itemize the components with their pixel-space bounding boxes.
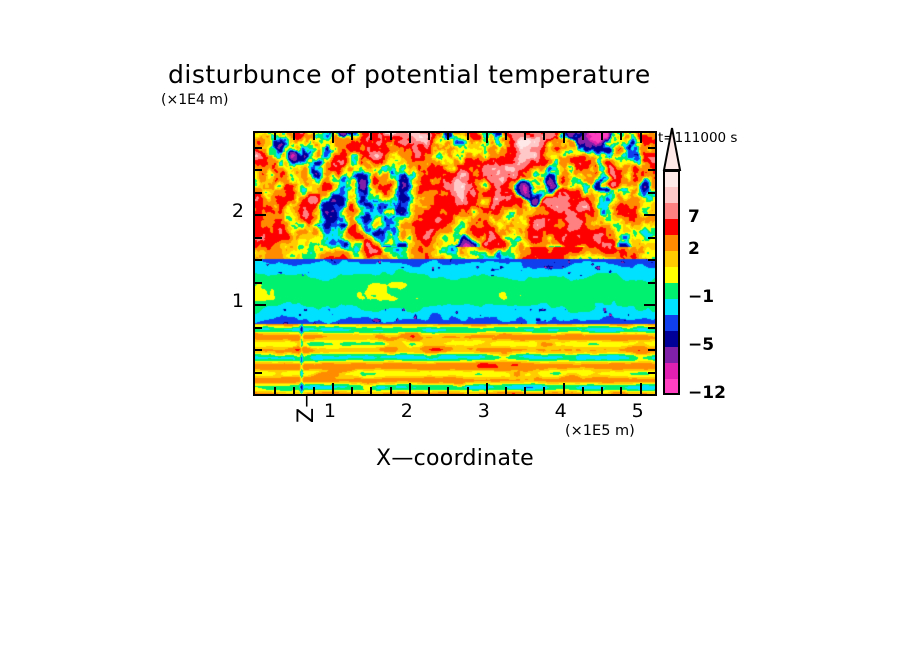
axis-tick [332,383,334,394]
x-tick-label: 1 [315,400,345,422]
axis-tick [351,133,353,140]
axis-tick [486,133,488,143]
axis-tick [640,383,642,394]
colorbar-tick-label: 2 [688,239,700,259]
axis-tick [447,387,449,394]
y-tick-label: 1 [220,290,244,312]
axis-tick [620,133,622,140]
axis-tick [313,387,315,394]
colorbar-band [663,234,680,251]
contour-plot-area[interactable] [253,131,657,396]
axis-tick [255,237,262,239]
axis-tick [255,259,262,261]
axis-tick [582,387,584,394]
axis-tick [447,133,449,140]
figure-canvas: disturbunce of potential temperature (×1… [0,0,904,654]
axis-tick [640,133,642,143]
colorbar-arrow-cap [659,126,685,172]
axis-tick [524,387,526,394]
axis-tick [644,214,655,216]
axis-tick [563,383,565,394]
axis-tick [370,133,372,140]
colorbar-band [663,218,680,235]
axis-tick [601,387,603,394]
axis-tick [582,133,584,140]
axis-tick [428,387,430,394]
axis-tick [524,133,526,140]
axis-tick [313,133,315,140]
axis-tick [390,387,392,394]
axis-tick [332,133,334,143]
axis-tick [255,372,262,374]
axis-tick [543,133,545,140]
colorbar-band [663,266,680,283]
axis-tick [255,349,262,351]
axis-tick [644,304,655,306]
colorbar-tick-label: −5 [688,335,714,355]
axis-tick [255,147,262,149]
axis-tick [409,383,411,394]
axis-tick [255,192,262,194]
axis-tick [255,304,266,306]
y-tick-label: 2 [220,200,244,222]
axis-tick [648,259,655,261]
axis-tick [255,214,266,216]
colorbar-band [663,202,680,219]
axis-tick [409,133,411,143]
axis-tick [505,133,507,140]
axis-tick [620,387,622,394]
x-tick-label: 4 [546,400,576,422]
colorbar-tick-label: −12 [688,383,726,403]
page-title: disturbunce of potential temperature [168,60,738,89]
axis-tick [543,387,545,394]
axis-tick [467,133,469,140]
x-axis-title: X—coordinate [330,446,580,471]
colorbar-band [663,378,680,395]
axis-tick [648,237,655,239]
axis-tick [648,327,655,329]
y-axis-title-wrapper: Z—coordinate [187,150,215,410]
colorbar-band [663,298,680,315]
axis-tick [505,387,507,394]
axis-tick [274,387,276,394]
axis-tick [255,282,262,284]
axis-tick [255,169,262,171]
x-tick-label: 2 [392,400,422,422]
colorbar[interactable] [663,170,680,394]
colorbar-band [663,282,680,299]
x-axis-unit-label: (×1E5 m) [565,423,635,439]
colorbar-tick-label: 7 [688,207,700,227]
axis-tick [467,387,469,394]
axis-tick [648,349,655,351]
axis-tick [648,147,655,149]
axis-tick [563,133,565,143]
x-tick-label: 5 [623,400,653,422]
axis-tick [648,282,655,284]
axis-tick [293,387,295,394]
axis-tick [351,387,353,394]
colorbar-band [663,186,680,203]
axis-tick [648,372,655,374]
axis-tick [428,133,430,140]
y-axis-unit-label: (×1E4 m) [161,92,228,108]
axis-tick [370,387,372,394]
axis-tick [274,133,276,140]
colorbar-band [663,362,680,379]
colorbar-tick-label: −1 [688,287,714,307]
axis-tick [390,133,392,140]
colorbar-band [663,314,680,331]
axis-tick [255,327,262,329]
contour-field-canvas [255,133,655,394]
axis-tick [648,192,655,194]
x-tick-label: 3 [469,400,499,422]
colorbar-band [663,170,680,187]
colorbar-band [663,330,680,347]
colorbar-band [663,346,680,363]
axis-tick [486,383,488,394]
axis-tick [601,133,603,140]
colorbar-band [663,250,680,267]
axis-tick [648,169,655,171]
axis-tick [293,133,295,140]
